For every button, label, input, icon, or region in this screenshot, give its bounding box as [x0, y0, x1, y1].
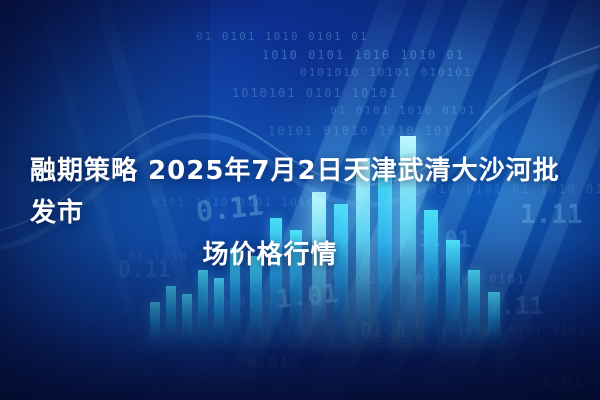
banner-image: 01 0101 1010 0101 01 1010 0101 1010 1010…: [0, 0, 600, 400]
headline-block: 融期策略 2025年7月2日天津武清大沙河批发市 场价格行情: [30, 150, 570, 276]
headline-line-1: 融期策略 2025年7月2日天津武清大沙河批发市: [30, 150, 570, 234]
headline-line-2: 场价格行情: [30, 234, 570, 276]
